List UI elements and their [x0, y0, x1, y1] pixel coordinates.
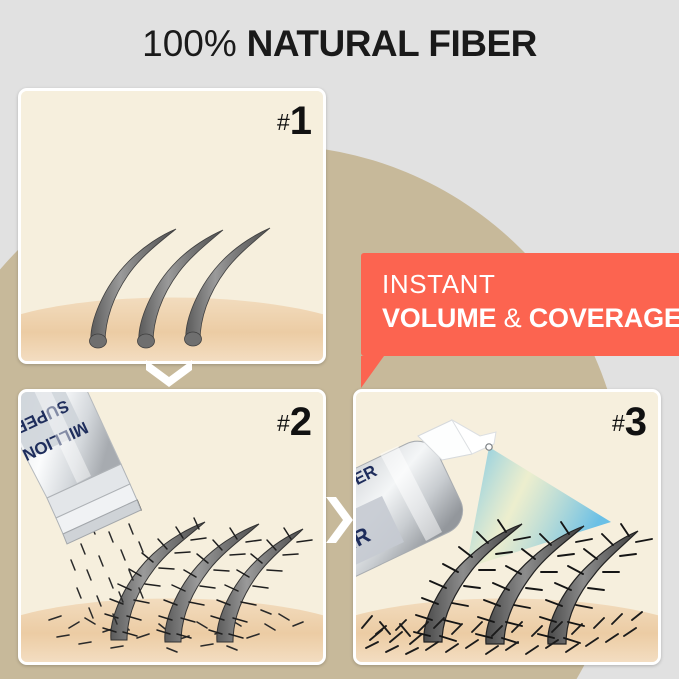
panel-3-hash: # [612, 410, 625, 436]
panel-2-hash: # [277, 410, 290, 436]
banner-line-instant: INSTANT [382, 269, 679, 299]
panel-3-digit: 3 [625, 400, 646, 444]
banner-line-volume-coverage: VOLUME & COVERAGE [382, 301, 679, 335]
banner-ampersand: & [504, 303, 522, 333]
panel-1-hash: # [277, 109, 290, 135]
panel-2-number: #2 [277, 400, 311, 445]
page-title: 100% NATURAL FIBER [0, 22, 679, 66]
title-percent: 100% [142, 23, 237, 64]
panel-2-digit: 2 [290, 400, 311, 444]
banner-pointer-tail [361, 356, 384, 388]
panel-1-number: #1 [277, 99, 311, 144]
chevron-down-icon [146, 360, 192, 387]
step-panel-3: SUPER HAIR [353, 389, 661, 665]
nozzle [486, 444, 492, 450]
step-panel-2: SUPER MILLION #2 [18, 389, 326, 665]
panel-1-digit: 1 [290, 99, 311, 143]
title-main: NATURAL FIBER [247, 23, 537, 64]
banner-coverage: COVERAGE [529, 303, 679, 333]
panel-3-number: #3 [612, 400, 646, 445]
infographic-canvas: 100% NATURAL FIBER [0, 0, 679, 679]
banner-volume: VOLUME [382, 303, 496, 333]
step-panel-1: #1 [18, 88, 326, 364]
promo-banner: INSTANT VOLUME & COVERAGE [361, 253, 679, 356]
chevron-right-icon [326, 497, 353, 543]
